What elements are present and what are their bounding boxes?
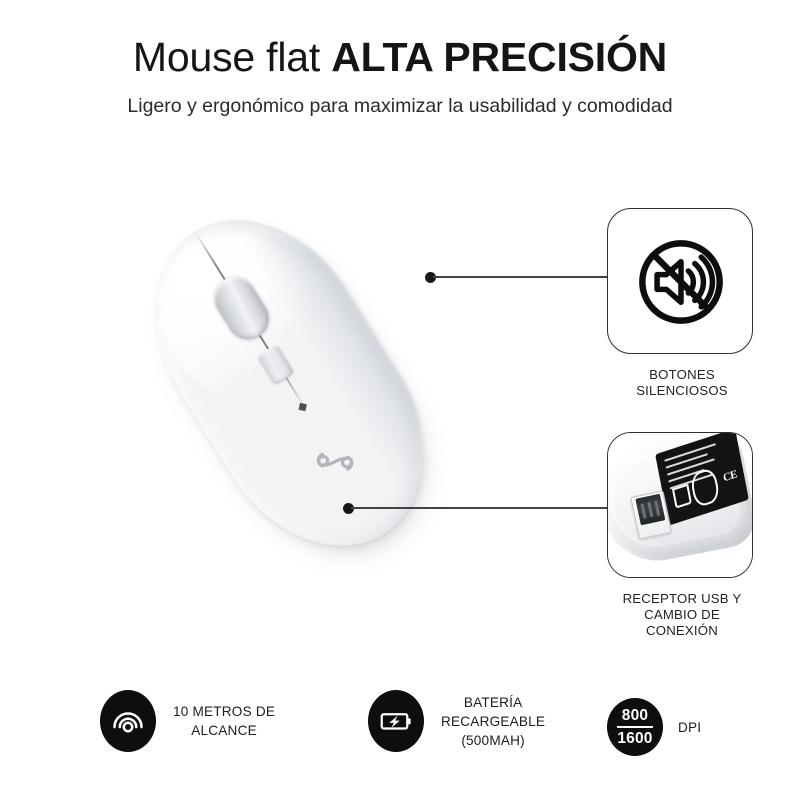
feature-strip: 10 METROS DE ALCANCE BATERÍA RECARGEABLE…: [0, 690, 800, 770]
page-title-bold: ALTA PRECISIÓN: [331, 34, 667, 80]
dpi-high-value: 1600: [617, 730, 652, 747]
callout-usb-receiver-caption: RECEPTOR USB Y CAMBIO DE CONEXIÓN: [607, 591, 757, 639]
callout-silent-buttons-caption: BOTONES SILENCIOSOS: [607, 367, 757, 399]
label-line: (500MAH): [441, 731, 545, 750]
caption-line: BOTONES: [607, 367, 757, 383]
caption-line: CONEXIÓN: [607, 623, 757, 639]
page-subtitle: Ligero y ergonómico para maximizar la us…: [0, 94, 800, 118]
mute-speaker-icon: [635, 236, 727, 328]
label-line: 10 METROS DE: [173, 702, 275, 721]
leader-line-usb-receiver: [351, 507, 609, 509]
feature-battery: BATERÍA RECARGEABLE (500MAH): [368, 690, 545, 752]
dpi-low-value: 800: [622, 707, 648, 724]
dpi-values-badge: 800 1600: [607, 698, 663, 756]
label-line: BATERÍA: [441, 693, 545, 712]
mouse-illustration: [19, 115, 553, 656]
caption-line: RECEPTOR USB Y: [607, 591, 757, 607]
wireless-signal-icon: [100, 690, 156, 752]
caption-line: CAMBIO DE: [607, 607, 757, 623]
feature-range-label: 10 METROS DE ALCANCE: [173, 702, 275, 740]
page-title: Mouse flat ALTA PRECISIÓN: [0, 34, 800, 80]
callout-silent-buttons-box: [607, 208, 753, 354]
product-infographic: Mouse flat ALTA PRECISIÓN Ligero y ergon…: [0, 0, 800, 800]
feature-dpi-label: DPI: [678, 718, 701, 737]
header: Mouse flat ALTA PRECISIÓN Ligero y ergon…: [0, 34, 800, 118]
battery-charging-icon: [368, 690, 424, 752]
wee-bin-mark-icon: [672, 484, 692, 509]
callout-usb-receiver-box: CE: [607, 432, 753, 578]
feature-dpi: 800 1600 DPI: [607, 698, 701, 756]
ce-mark-icon: CE: [722, 468, 738, 484]
usb-pin: [640, 503, 646, 518]
product-image: [96, 185, 476, 585]
leader-line-silent-buttons: [433, 276, 609, 278]
label-line: RECARGEABLE: [441, 712, 545, 731]
dpi-divider: [617, 726, 653, 728]
callout-silent-buttons: BOTONES SILENCIOSOS: [607, 208, 757, 399]
usb-pin: [647, 502, 653, 517]
callout-usb-receiver: CE RECEPTOR USB Y CAMBIO DE CONEXIÓN: [607, 432, 757, 639]
usb-plug: [635, 494, 665, 526]
feature-battery-label: BATERÍA RECARGEABLE (500MAH): [441, 693, 545, 750]
usb-receiver-photo: CE: [608, 433, 753, 578]
usb-pin: [654, 500, 660, 515]
feature-range: 10 METROS DE ALCANCE: [100, 690, 275, 752]
caption-line: SILENCIOSOS: [607, 383, 757, 399]
page-title-light: Mouse flat: [133, 34, 331, 80]
label-line: ALCANCE: [173, 721, 275, 740]
